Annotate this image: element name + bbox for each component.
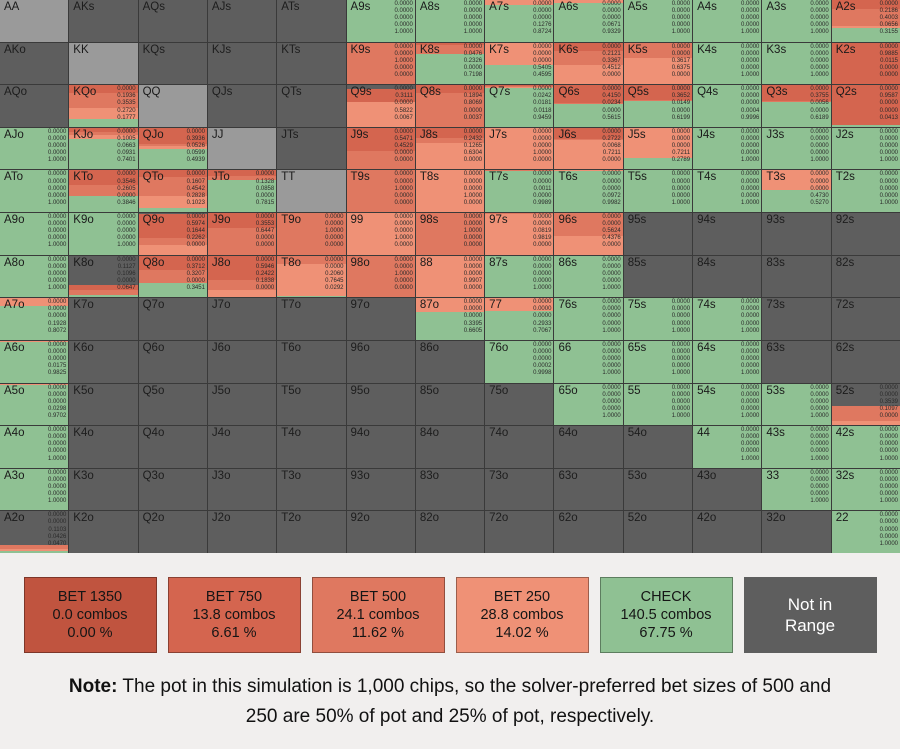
cell-hand-label: 88 [420, 257, 433, 269]
legend-label: Range [785, 615, 835, 636]
cell-hand-label: 93o [351, 470, 370, 482]
range-cell-K7s[interactable]: 0.00000.00000.00000.54050.4595K7s [485, 43, 553, 85]
cell-frequencies: 0.00000.00000.00000.00001.0000 [810, 427, 828, 462]
legend-bet-1350[interactable]: BET 13500.0 combos0.00 % [24, 577, 157, 653]
cell-hand-label: Q7o [143, 299, 165, 311]
range-cell-86o[interactable]: 86o [416, 341, 484, 383]
range-cell-73s[interactable]: 73s [762, 298, 830, 340]
range-cell-87o[interactable]: 0.00000.00000.00000.33950.660587o [416, 298, 484, 340]
range-cell-T4o[interactable]: T4o [277, 426, 345, 468]
cell-frequencies: 0.00000.00000.00000.00040.9996 [741, 86, 759, 121]
cell-hand-label: 42s [836, 427, 855, 439]
range-cell-Q3o[interactable]: Q3o [139, 469, 207, 511]
cell-hand-label: 55 [628, 385, 641, 397]
range-cell-K6o[interactable]: K6o [69, 341, 137, 383]
range-cell-73o[interactable]: 73o [485, 469, 553, 511]
legend-label: 14.02 % [495, 624, 548, 642]
cell-frequencies: 0.00000.00000.00000.29330.7067 [533, 299, 551, 334]
cell-hand-label: J7o [212, 299, 231, 311]
cell-frequencies: 0.00000.00000.08190.98190.0000 [533, 214, 551, 249]
cell-hand-label: 82o [420, 512, 439, 524]
cell-hand-label: 33 [766, 470, 779, 482]
range-cell-J7o[interactable]: J7o [208, 298, 276, 340]
cell-frequencies: 0.00000.24320.12650.63040.0000 [464, 129, 482, 164]
range-cell-Q3s[interactable]: 0.00000.37550.00560.00000.6189Q3s [762, 85, 830, 127]
cell-frequencies: 0.00000.98850.01150.00000.0000 [880, 44, 898, 79]
range-cell-94s[interactable]: 94s [693, 213, 761, 255]
range-cell-54o[interactable]: 54o [624, 426, 692, 468]
cell-hand-label: J7s [489, 129, 507, 141]
legend-label: Not in [788, 594, 832, 615]
range-cell-93o[interactable]: 93o [347, 469, 415, 511]
range-cell-T5o[interactable]: T5o [277, 384, 345, 426]
range-cell-Q9o[interactable]: 0.00000.59740.16440.22620.0000Q9o [139, 213, 207, 255]
cell-frequencies: 0.00000.00001.00000.00000.0000 [464, 214, 482, 249]
cell-hand-label: JTo [212, 171, 230, 183]
range-cell-64s[interactable]: 0.00000.00000.00000.00001.000064s [693, 341, 761, 383]
range-cell-K6s[interactable]: 0.00000.21210.33670.45120.0000K6s [554, 43, 622, 85]
range-cell-A6s[interactable]: 0.00000.00000.00000.06710.9329A6s [554, 0, 622, 42]
range-cell-JTs[interactable]: JTs [277, 128, 345, 170]
cell-hand-label: 95o [351, 385, 370, 397]
cell-hand-label: A8s [420, 1, 440, 13]
range-cell-88[interactable]: 0.00000.00000.00000.99070.000088 [416, 256, 484, 298]
range-cell-KJs[interactable]: KJs [208, 43, 276, 85]
range-cell-72o[interactable]: 72o [485, 511, 553, 553]
legend-bet-750[interactable]: BET 75013.8 combos6.61 % [168, 577, 301, 653]
cell-hand-label: 42o [697, 512, 716, 524]
range-cell-95o[interactable]: 95o [347, 384, 415, 426]
action-legend: BET 13500.0 combos0.00 %BET 75013.8 comb… [0, 560, 900, 670]
cell-frequencies: 0.00000.00000.00000.00001.0000 [672, 171, 690, 206]
range-cell-K4s[interactable]: 0.00000.00000.00000.00001.0000K4s [693, 43, 761, 85]
range-cell-KTs[interactable]: KTs [277, 43, 345, 85]
cell-hand-label: K4s [697, 44, 717, 56]
cell-hand-label: Q2s [836, 86, 857, 98]
cell-frequencies: 0.00000.00000.00000.00001.0000 [602, 257, 620, 292]
range-cell-J2o[interactable]: J2o [208, 511, 276, 553]
range-cell-32s[interactable]: 0.00000.00000.00000.00001.000032s [832, 469, 900, 511]
range-cell-A9s[interactable]: 0.00000.00000.00000.00001.0000A9s [347, 0, 415, 42]
cell-hand-label: 83o [420, 470, 439, 482]
cell-hand-label: K6s [558, 44, 578, 56]
range-cell-A6o[interactable]: 0.00000.00000.00000.01750.9825A6o [0, 341, 68, 383]
range-cell-84o[interactable]: 84o [416, 426, 484, 468]
range-cell-K9s[interactable]: 0.00000.00001.00000.00000.0000K9s [347, 43, 415, 85]
cell-hand-label: 52s [836, 385, 855, 397]
range-cell-83o[interactable]: 83o [416, 469, 484, 511]
range-cell-K5s[interactable]: 0.00000.00000.36170.63750.0000K5s [624, 43, 692, 85]
range-cell-J5s[interactable]: 0.00000.00000.00000.72110.2789J5s [624, 128, 692, 170]
range-cell-T3s[interactable]: 0.00000.00000.00000.47300.5270T3s [762, 170, 830, 212]
action-band [69, 295, 137, 298]
legend-label: 67.75 % [639, 624, 692, 642]
range-cell-55[interactable]: 0.00000.00000.00000.00001.000055 [624, 384, 692, 426]
range-cell-53s[interactable]: 0.00000.00000.00000.00001.000053s [762, 384, 830, 426]
cell-hand-label: T9s [351, 171, 370, 183]
range-cell-J2s[interactable]: 0.00000.00000.00000.00001.0000J2s [832, 128, 900, 170]
range-cell-Q2o[interactable]: Q2o [139, 511, 207, 553]
range-cell-66[interactable]: 0.00000.00000.00000.00001.000066 [554, 341, 622, 383]
range-cell-A7s[interactable]: 0.00000.00000.00000.12760.8724A7s [485, 0, 553, 42]
range-cell-JTo[interactable]: 0.00000.13280.08580.00000.7815JTo [208, 170, 276, 212]
cell-frequencies: 0.00000.00000.00000.00001.0000 [741, 44, 759, 79]
cell-hand-label: K6o [73, 342, 93, 354]
cell-hand-label: QJo [143, 129, 164, 141]
cell-frequencies: 0.00000.00000.00000.00001.0000 [810, 44, 828, 79]
legend-label: 0.0 combos [53, 606, 128, 624]
range-cell-KQo[interactable]: 0.00000.19360.35350.27200.1777KQo [69, 85, 137, 127]
range-cell-AJs[interactable]: AJs [208, 0, 276, 42]
cell-hand-label: Q6o [143, 342, 165, 354]
cell-frequencies: 0.00000.00001.00000.00000.0000 [394, 171, 412, 206]
cell-hand-label: 96o [351, 342, 370, 354]
range-cell-A9o[interactable]: 0.00000.00000.00000.00001.0000A9o [0, 213, 68, 255]
range-cell-K9o[interactable]: 0.00000.00000.00000.00001.0000K9o [69, 213, 137, 255]
cell-hand-label: Q8s [420, 86, 441, 98]
cell-hand-label: 96s [558, 214, 577, 226]
range-cell-J6o[interactable]: J6o [208, 341, 276, 383]
range-cell-QQ[interactable]: QQ [139, 85, 207, 127]
cell-frequencies: 0.00000.95870.00000.00000.0413 [880, 86, 898, 121]
range-cell-J7s[interactable]: 0.00000.00000.00001.00000.0000J7s [485, 128, 553, 170]
range-cell-ATo[interactable]: 0.00000.00000.00000.00001.0000ATo [0, 170, 68, 212]
range-cell-AA[interactable]: AA [0, 0, 68, 42]
range-cell-54s[interactable]: 0.00000.00000.00000.00001.000054s [693, 384, 761, 426]
cell-hand-label: T6o [281, 342, 301, 354]
range-cell-94o[interactable]: 94o [347, 426, 415, 468]
range-cell-K7o[interactable]: K7o [69, 298, 137, 340]
range-cell-T3o[interactable]: T3o [277, 469, 345, 511]
cell-hand-label: Q3s [766, 86, 787, 98]
range-cell-K3o[interactable]: K3o [69, 469, 137, 511]
range-cell-K8o[interactable]: 0.00000.11270.10960.00000.0647K8o [69, 256, 137, 298]
cell-hand-label: T8s [420, 171, 439, 183]
cell-hand-label: JTs [281, 129, 298, 141]
range-cell-KK[interactable]: KK [69, 43, 137, 85]
range-cell-T5s[interactable]: 0.00000.00000.00000.00001.0000T5s [624, 170, 692, 212]
cell-hand-label: A5s [628, 1, 648, 13]
cell-hand-label: 64o [558, 427, 577, 439]
range-cell-97o[interactable]: 97o [347, 298, 415, 340]
range-cell-J4o[interactable]: J4o [208, 426, 276, 468]
legend-check[interactable]: CHECK140.5 combos67.75 % [600, 577, 733, 653]
cell-frequencies: 0.00000.00000.00000.00001.0000 [48, 129, 66, 164]
cell-hand-label: 66 [558, 342, 571, 354]
range-cell-63o[interactable]: 63o [554, 469, 622, 511]
range-cell-77[interactable]: 0.00000.00000.00000.29330.706777 [485, 298, 553, 340]
range-cell-Q6s[interactable]: 0.00000.41500.02340.00000.5615Q6s [554, 85, 622, 127]
cell-hand-label: 86o [420, 342, 439, 354]
range-cell-QTs[interactable]: QTs [277, 85, 345, 127]
legend-label: BET 500 [350, 588, 406, 606]
cell-hand-label: Q2o [143, 512, 165, 524]
range-cell-85o[interactable]: 85o [416, 384, 484, 426]
range-cell-Q7o[interactable]: Q7o [139, 298, 207, 340]
range-cell-J8s[interactable]: 0.00000.24320.12650.63040.0000J8s [416, 128, 484, 170]
cell-hand-label: T9o [281, 214, 301, 226]
range-cell-A5o[interactable]: 0.00000.00000.00000.02980.9702A5o [0, 384, 68, 426]
cell-hand-label: A6o [4, 342, 24, 354]
range-grid-page: AAAKsAQsAJsATs0.00000.00000.00000.00001.… [0, 0, 900, 749]
poker-range-grid[interactable]: AAAKsAQsAJsATs0.00000.00000.00000.00001.… [0, 0, 900, 553]
range-cell-A2o[interactable]: 0.00000.00000.11030.04260.0470A2o [0, 511, 68, 553]
cell-hand-label: 84o [420, 427, 439, 439]
range-cell-82o[interactable]: 82o [416, 511, 484, 553]
range-cell-98o[interactable]: 0.00000.00001.00000.00000.000098o [347, 256, 415, 298]
range-cell-Q5s[interactable]: 0.00000.36520.01490.00000.6199Q5s [624, 85, 692, 127]
range-cell-98s[interactable]: 0.00000.00001.00000.00000.000098s [416, 213, 484, 255]
cell-hand-label: T2o [281, 512, 301, 524]
cell-frequencies: 0.00000.00000.00000.00001.0000 [48, 470, 66, 505]
cell-hand-label: AKo [4, 44, 26, 56]
range-cell-64o[interactable]: 64o [554, 426, 622, 468]
range-cell-Q6o[interactable]: Q6o [139, 341, 207, 383]
range-cell-AKo[interactable]: AKo [0, 43, 68, 85]
cell-hand-label: 65o [558, 385, 577, 397]
range-cell-AQs[interactable]: AQs [139, 0, 207, 42]
legend-label: 6.61 % [211, 624, 256, 642]
cell-hand-label: 93s [766, 214, 785, 226]
range-cell-96s[interactable]: 0.00000.00000.56240.43760.000096s [554, 213, 622, 255]
range-cell-TT[interactable]: TT [277, 170, 345, 212]
cell-frequencies: 0.00000.00000.00001.00000.0000 [394, 214, 412, 249]
cell-frequencies: 0.00000.00000.00000.00001.0000 [880, 427, 898, 462]
range-cell-K4o[interactable]: K4o [69, 426, 137, 468]
cell-hand-label: J2s [836, 129, 854, 141]
range-cell-22[interactable]: 0.00000.00000.00000.00001.000022 [832, 511, 900, 553]
range-cell-99[interactable]: 0.00000.00000.00001.00000.000099 [347, 213, 415, 255]
cell-hand-label: T2s [836, 171, 855, 183]
range-cell-K2o[interactable]: K2o [69, 511, 137, 553]
range-cell-97s[interactable]: 0.00000.00000.08190.98190.000097s [485, 213, 553, 255]
range-cell-Q8s[interactable]: 0.00000.18940.80690.00000.0037Q8s [416, 85, 484, 127]
range-cell-A4o[interactable]: 0.00000.00000.00000.00001.0000A4o [0, 426, 68, 468]
cell-hand-label: ATs [281, 1, 299, 13]
cell-frequencies: 0.00000.31110.00000.58220.0067 [394, 86, 412, 121]
range-cell-J3o[interactable]: J3o [208, 469, 276, 511]
range-cell-T6s[interactable]: 0.00000.00000.00000.09720.9982T6s [554, 170, 622, 212]
range-cell-K5o[interactable]: K5o [69, 384, 137, 426]
cell-frequencies: 0.00000.00000.00000.00001.0000 [741, 385, 759, 420]
cell-frequencies: 0.00000.00000.00000.12760.8724 [533, 1, 551, 36]
range-cell-74s[interactable]: 0.00000.00000.00000.00001.000074s [693, 298, 761, 340]
range-cell-52o[interactable]: 52o [624, 511, 692, 553]
cell-hand-label: K5s [628, 44, 648, 56]
cell-frequencies: 0.00000.00000.00000.00001.0000 [880, 512, 898, 547]
cell-hand-label: 43s [766, 427, 785, 439]
range-cell-96o[interactable]: 96o [347, 341, 415, 383]
cell-hand-label: 62s [836, 342, 855, 354]
cell-hand-label: KJs [212, 44, 231, 56]
range-cell-33[interactable]: 0.00000.00000.00000.00001.000033 [762, 469, 830, 511]
range-cell-42o[interactable]: 42o [693, 511, 761, 553]
range-cell-86s[interactable]: 0.00000.00000.00000.00001.000086s [554, 256, 622, 298]
range-cell-AJo[interactable]: 0.00000.00000.00000.00001.0000AJo [0, 128, 68, 170]
range-cell-Q4o[interactable]: Q4o [139, 426, 207, 468]
range-cell-63s[interactable]: 63s [762, 341, 830, 383]
cell-hand-label: J9s [351, 129, 369, 141]
legend-bet-250[interactable]: BET 25028.8 combos14.02 % [456, 577, 589, 653]
range-cell-A8s[interactable]: 0.00000.00000.00000.00001.0000A8s [416, 0, 484, 42]
range-cell-A2s[interactable]: 0.00000.21860.40030.06560.3155A2s [832, 0, 900, 42]
cell-frequencies: 0.00000.00000.00001.00000.0000 [464, 171, 482, 206]
range-cell-J4s[interactable]: 0.00000.00000.00000.00001.0000J4s [693, 128, 761, 170]
cell-hand-label: 63s [766, 342, 785, 354]
cell-frequencies: 0.00000.00000.00000.00001.0000 [602, 385, 620, 420]
range-cell-62o[interactable]: 62o [554, 511, 622, 553]
range-cell-KJo[interactable]: 0.00000.10050.06630.09310.7401KJo [69, 128, 137, 170]
range-cell-T6o[interactable]: T6o [277, 341, 345, 383]
range-cell-76s[interactable]: 0.00000.00000.00000.00001.000076s [554, 298, 622, 340]
range-cell-T8o[interactable]: 0.00000.00000.20600.76450.0292T8o [277, 256, 345, 298]
range-cell-T2o[interactable]: T2o [277, 511, 345, 553]
cell-frequencies: 0.00000.00000.00000.00001.0000 [741, 171, 759, 206]
cell-frequencies: 0.00000.00000.00000.00001.0000 [672, 342, 690, 377]
cell-frequencies: 0.00000.00000.00000.72110.2789 [672, 129, 690, 164]
range-cell-J3s[interactable]: 0.00000.00000.00000.00001.0000J3s [762, 128, 830, 170]
cell-hand-label: KTs [281, 44, 300, 56]
range-cell-Q5o[interactable]: Q5o [139, 384, 207, 426]
range-cell-J6s[interactable]: 0.00000.27220.00680.72110.0000J6s [554, 128, 622, 170]
cell-hand-label: 83s [766, 257, 785, 269]
range-cell-Q2s[interactable]: 0.00000.95870.00000.00000.0413Q2s [832, 85, 900, 127]
cell-frequencies: 0.00000.16070.45420.28280.1023 [187, 171, 205, 206]
cell-hand-label: J4s [697, 129, 715, 141]
range-cell-42s[interactable]: 0.00000.00000.00000.00001.000042s [832, 426, 900, 468]
range-cell-AKs[interactable]: AKs [69, 0, 137, 42]
cell-hand-label: 85s [628, 257, 647, 269]
cell-hand-label: AQo [4, 86, 27, 98]
cell-hand-label: Q8o [143, 257, 165, 269]
cell-hand-label: 65s [628, 342, 647, 354]
range-cell-A8o[interactable]: 0.00000.00000.00000.00001.0000A8o [0, 256, 68, 298]
range-cell-Q4s[interactable]: 0.00000.00000.00000.00040.9996Q4s [693, 85, 761, 127]
cell-hand-label: 75o [489, 385, 508, 397]
range-cell-K2s[interactable]: 0.00000.98850.01150.00000.0000K2s [832, 43, 900, 85]
cell-frequencies: 0.00000.00000.00000.99070.0000 [464, 257, 482, 292]
range-cell-Q8o[interactable]: 0.00000.37120.32070.00000.3451Q8o [139, 256, 207, 298]
cell-frequencies: 0.00000.00000.00000.19280.8072 [48, 299, 66, 334]
range-cell-J5o[interactable]: J5o [208, 384, 276, 426]
range-cell-KQs[interactable]: KQs [139, 43, 207, 85]
cell-hand-label: 94o [351, 427, 370, 439]
range-cell-QJo[interactable]: 0.00000.39360.05260.05990.4939QJo [139, 128, 207, 170]
cell-hand-label: 74s [697, 299, 716, 311]
cell-frequencies: 0.00000.00000.00000.00001.0000 [741, 342, 759, 377]
cell-frequencies: 0.00000.27220.00680.72110.0000 [602, 129, 620, 164]
range-cell-A5s[interactable]: 0.00000.00000.00000.00001.0000A5s [624, 0, 692, 42]
range-cell-T7s[interactable]: 0.00000.00000.00110.00000.9989T7s [485, 170, 553, 212]
range-cell-74o[interactable]: 74o [485, 426, 553, 468]
range-cell-K8s[interactable]: 0.00000.04760.23260.00000.7198K8s [416, 43, 484, 85]
cell-frequencies: 0.00000.00001.00000.00000.0000 [394, 44, 412, 79]
cell-hand-label: T4s [697, 171, 716, 183]
range-cell-K3s[interactable]: 0.00000.00000.00000.00001.0000K3s [762, 43, 830, 85]
cell-hand-label: J5s [628, 129, 646, 141]
action-band [832, 125, 900, 127]
range-cell-87s[interactable]: 0.00000.00000.00000.00001.000087s [485, 256, 553, 298]
cell-frequencies: 0.00000.00000.00000.00001.0000 [810, 1, 828, 36]
cell-hand-label: K7s [489, 44, 509, 56]
range-cell-65o[interactable]: 0.00000.00000.00000.00001.000065o [554, 384, 622, 426]
range-cell-85s[interactable]: 85s [624, 256, 692, 298]
range-cell-AQo[interactable]: AQo [0, 85, 68, 127]
cell-frequencies: 0.00000.00000.00000.00001.0000 [533, 257, 551, 292]
range-cell-T9o[interactable]: 0.00000.00001.00000.00000.0000T9o [277, 213, 345, 255]
range-cell-75o[interactable]: 75o [485, 384, 553, 426]
range-cell-93s[interactable]: 93s [762, 213, 830, 255]
range-cell-JJ[interactable]: JJ [208, 128, 276, 170]
range-cell-A3s[interactable]: 0.00000.00000.00000.00001.0000A3s [762, 0, 830, 42]
range-cell-QTo[interactable]: 0.00000.16070.45420.28280.1023QTo [139, 170, 207, 212]
range-cell-T2s[interactable]: 0.00000.00000.00000.00001.0000T2s [832, 170, 900, 212]
cell-hand-label: 84s [697, 257, 716, 269]
range-cell-KTo[interactable]: 0.00000.35460.26050.00000.3846KTo [69, 170, 137, 212]
legend-not-in-range[interactable]: Not inRange [744, 577, 877, 653]
cell-hand-label: 99 [351, 214, 364, 226]
range-cell-83s[interactable]: 83s [762, 256, 830, 298]
range-cell-J9o[interactable]: 0.00000.35530.64470.00000.0000J9o [208, 213, 276, 255]
range-cell-75s[interactable]: 0.00000.00000.00000.00001.000075s [624, 298, 692, 340]
cell-hand-label: K7o [73, 299, 93, 311]
range-cell-53o[interactable]: 53o [624, 469, 692, 511]
range-cell-95s[interactable]: 95s [624, 213, 692, 255]
action-band [277, 296, 345, 297]
cell-hand-label: 62o [558, 512, 577, 524]
cell-hand-label: 77 [489, 299, 502, 311]
range-cell-A4s[interactable]: 0.00000.00000.00000.00001.0000A4s [693, 0, 761, 42]
range-cell-92s[interactable]: 92s [832, 213, 900, 255]
range-cell-T7o[interactable]: T7o [277, 298, 345, 340]
range-cell-T8s[interactable]: 0.00000.00000.00001.00000.0000T8s [416, 170, 484, 212]
legend-bet-500[interactable]: BET 50024.1 combos11.62 % [312, 577, 445, 653]
range-cell-52s[interactable]: 0.00000.00000.35390.10970.000052s [832, 384, 900, 426]
cell-hand-label: 32o [766, 512, 785, 524]
range-cell-T4s[interactable]: 0.00000.00000.00000.00001.0000T4s [693, 170, 761, 212]
range-cell-76o[interactable]: 0.00000.00000.00000.00020.999876o [485, 341, 553, 383]
cell-hand-label: 95s [628, 214, 647, 226]
cell-frequencies: 0.00000.00000.00000.00001.0000 [880, 171, 898, 206]
range-cell-J8o[interactable]: 0.00000.59460.24220.18380.0000J8o [208, 256, 276, 298]
range-cell-QJs[interactable]: QJs [208, 85, 276, 127]
cell-hand-label: Q9s [351, 86, 372, 98]
range-cell-T9s[interactable]: 0.00000.00001.00000.00000.0000T9s [347, 170, 415, 212]
range-cell-32o[interactable]: 32o [762, 511, 830, 553]
range-cell-72s[interactable]: 72s [832, 298, 900, 340]
range-cell-44[interactable]: 0.00000.00000.00000.00001.000044 [693, 426, 761, 468]
cell-hand-label: AJs [212, 1, 231, 13]
range-cell-Q9s[interactable]: 0.00000.31110.00000.58220.0067Q9s [347, 85, 415, 127]
range-cell-84s[interactable]: 84s [693, 256, 761, 298]
cell-hand-label: 97s [489, 214, 508, 226]
range-cell-82s[interactable]: 82s [832, 256, 900, 298]
cell-hand-label: T4o [281, 427, 301, 439]
range-cell-43s[interactable]: 0.00000.00000.00000.00001.000043s [762, 426, 830, 468]
range-cell-92o[interactable]: 92o [347, 511, 415, 553]
range-cell-43o[interactable]: 43o [693, 469, 761, 511]
range-cell-62s[interactable]: 62s [832, 341, 900, 383]
range-cell-J9s[interactable]: 0.00000.54710.45290.00000.0000J9s [347, 128, 415, 170]
range-cell-ATs[interactable]: ATs [277, 0, 345, 42]
range-cell-65s[interactable]: 0.00000.00000.00000.00001.000065s [624, 341, 692, 383]
cell-frequencies: 0.00000.00000.00000.00020.9998 [533, 342, 551, 377]
range-cell-A7o[interactable]: 0.00000.00000.00000.19280.8072A7o [0, 298, 68, 340]
range-cell-Q7s[interactable]: 0.00000.02420.01810.01180.9459Q7s [485, 85, 553, 127]
cell-frequencies: 0.00000.00000.00000.00001.0000 [48, 427, 66, 462]
cell-hand-label: K8o [73, 257, 93, 269]
range-cell-A3o[interactable]: 0.00000.00000.00000.00001.0000A3o [0, 469, 68, 511]
